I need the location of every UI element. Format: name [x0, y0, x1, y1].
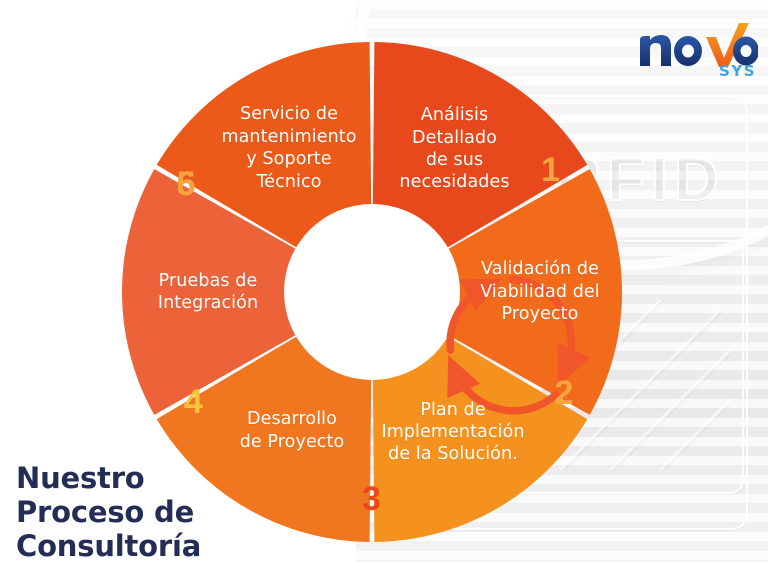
page-title-line-3: Consultoría — [16, 530, 201, 564]
page-title-line-2: Proceso de — [16, 496, 201, 530]
infographic-stage: RFID SYS — [0, 0, 768, 562]
logo-sys-text: SYS — [719, 62, 756, 80]
page-title: Nuestro Proceso de Consultoría — [16, 462, 201, 564]
novosys-logo[interactable]: SYS — [636, 22, 758, 84]
center-cycle-icon — [425, 255, 600, 430]
page-title-line-1: Nuestro — [16, 462, 201, 496]
